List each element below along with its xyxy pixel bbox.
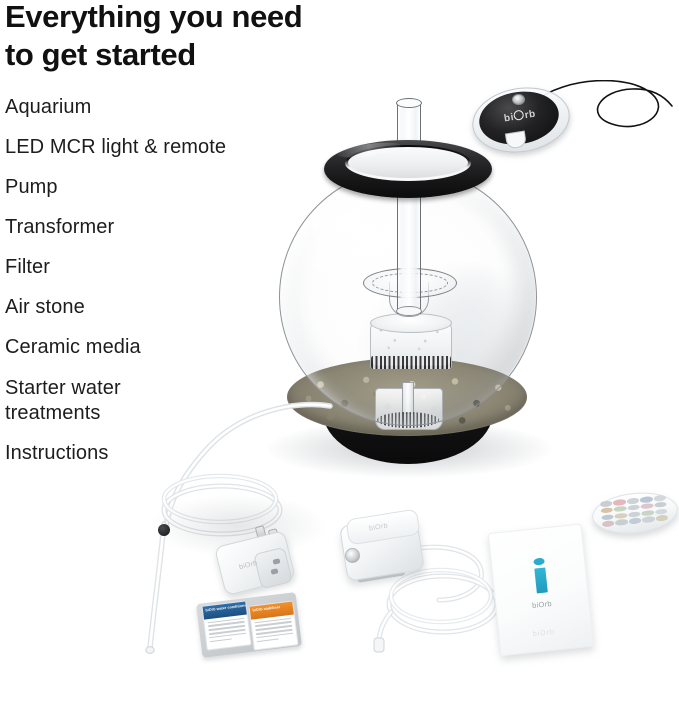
remote-key[interactable] xyxy=(613,499,626,506)
sachet-stabiliser: biOrb stabiliser xyxy=(248,600,298,650)
remote-key[interactable] xyxy=(641,503,654,510)
sachet-text-line xyxy=(210,639,231,643)
sachet-water-conditioner: biOrb water conditioner xyxy=(201,600,251,650)
remote-key[interactable] xyxy=(615,512,628,519)
remote-key[interactable] xyxy=(627,497,640,504)
remote-key[interactable] xyxy=(653,495,666,502)
base-highlight xyxy=(385,690,445,710)
led-logo-suffix: rb xyxy=(524,109,537,122)
list-item: Ceramic media xyxy=(5,336,315,358)
list-item: LED MCR light & remote xyxy=(5,136,315,158)
info-i-dot xyxy=(533,558,545,566)
remote-key[interactable] xyxy=(601,507,614,514)
sachet-header-orange: biOrb stabiliser xyxy=(250,602,294,620)
list-item: Filter xyxy=(5,256,315,278)
page-title: Everything you need to get started xyxy=(5,0,425,74)
list-item: Air stone xyxy=(5,296,315,318)
instructions-booklet: biOrb biOrb xyxy=(494,524,598,658)
remote-key[interactable] xyxy=(627,504,640,511)
remote-key[interactable] xyxy=(655,508,668,515)
sachet-text-line xyxy=(257,639,278,643)
remote-key[interactable] xyxy=(628,511,641,518)
remote-key[interactable] xyxy=(640,496,653,503)
list-item: Transformer xyxy=(5,216,315,238)
product-feature-image: Everything you need to get started Aquar… xyxy=(0,0,679,662)
led-screw-icon xyxy=(512,94,525,105)
starter-water-treatments: biOrb water conditioner biOrb stabiliser xyxy=(199,594,303,658)
list-item: Pump xyxy=(5,176,315,198)
remote-key[interactable] xyxy=(614,506,627,513)
transformer-plug: biOrb xyxy=(213,524,305,596)
remote-key[interactable] xyxy=(641,510,654,517)
sphere-outline xyxy=(279,168,537,426)
headline-line-2: to get started xyxy=(5,36,425,74)
air-pump: biOrb xyxy=(335,508,515,658)
remote-key[interactable] xyxy=(654,501,667,508)
air-flow-clip-icon xyxy=(158,524,170,536)
sachet-header-blue: biOrb water conditioner xyxy=(203,602,247,620)
led-remote-control xyxy=(592,489,679,541)
remote-key[interactable] xyxy=(601,514,614,521)
list-item: Aquarium xyxy=(5,96,315,118)
remote-key[interactable] xyxy=(600,500,613,507)
air-pump-outlet-port xyxy=(345,548,360,563)
headline-line-1: Everything you need xyxy=(5,0,425,36)
intake-tube-top xyxy=(396,98,422,108)
led-mcr-light: birb xyxy=(470,76,679,172)
